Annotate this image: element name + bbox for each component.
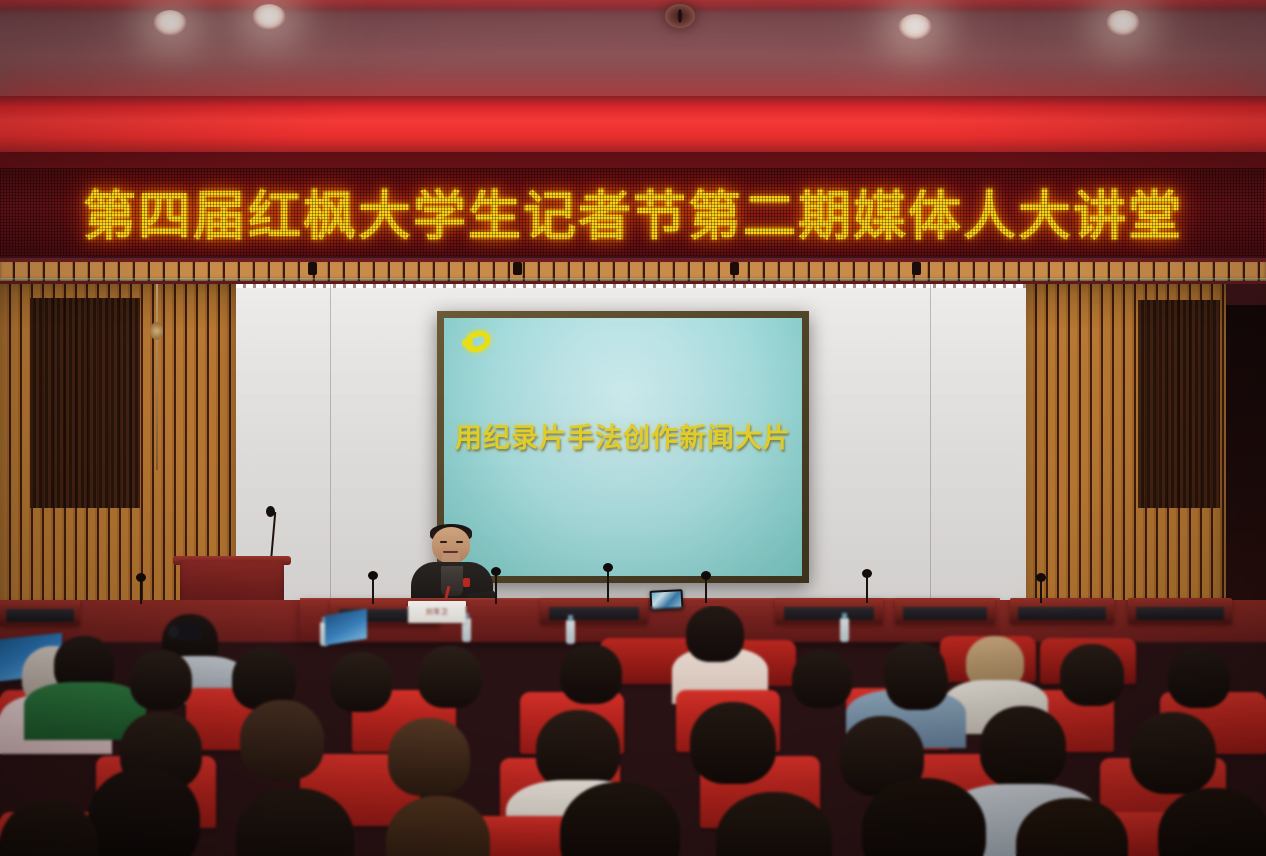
table-microphone-6 [1040, 580, 1042, 603]
red-cove-light-strip [0, 96, 1266, 158]
led-banner-board: 第四届红枫大学生记者节第二期媒体人大讲堂 [0, 168, 1266, 256]
ceiling-spot-2 [252, 4, 286, 30]
ceiling-sensor-3 [730, 262, 739, 275]
speaker-eye-right [456, 541, 463, 543]
ceiling-dome-fixture [665, 4, 695, 28]
table-microphone-2 [495, 574, 497, 604]
audience-head-denim [886, 652, 948, 710]
hanging-cable [156, 270, 158, 470]
audience-head-r2-10 [1060, 644, 1124, 706]
acoustic-grille-right [1138, 300, 1220, 508]
audience-head-r3-2 [240, 700, 324, 780]
slide-ring-logo-icon [461, 327, 494, 357]
audience-head-r3-7 [980, 706, 1066, 788]
audience-head-r2-5 [330, 652, 392, 712]
exit-doorway [1226, 305, 1266, 626]
flip-monitor-4 [895, 598, 995, 624]
ceiling-spot-4 [1106, 10, 1140, 36]
audience-head-r2-7 [560, 644, 622, 704]
audience-head-r2-11 [1168, 648, 1230, 708]
projection-screen-surface: 用纪录片手法创作新闻大片 [444, 318, 802, 576]
flip-monitor-2 [540, 598, 648, 624]
audience-smartphone[interactable] [649, 589, 683, 611]
audience-head-r3-3 [388, 718, 470, 796]
wood-slat-panel-right [1026, 270, 1226, 626]
table-microphone-7 [140, 580, 142, 604]
audience-head-fg-0 [0, 800, 98, 856]
ceiling-red-sheen [0, 0, 1266, 14]
audience-head-r3-5 [690, 702, 776, 784]
speaker-badge [463, 578, 470, 587]
ceiling-sensor-1 [308, 262, 317, 275]
speaker-name-card: 刘军卫 [408, 601, 466, 623]
water-bottle-2 [566, 620, 575, 644]
cable-knot [150, 322, 163, 340]
audience-head-r3-8 [1130, 712, 1216, 794]
ceiling-spot-1 [153, 10, 187, 36]
led-banner-text: 第四届红枫大学生记者节第二期媒体人大讲堂 [83, 174, 1183, 250]
table-microphone-4 [705, 578, 707, 603]
audience-head-r3-4 [536, 710, 620, 790]
ceiling-spot-3 [898, 14, 932, 40]
speaker-eye-left [440, 541, 447, 543]
water-bottle-4 [840, 618, 849, 642]
flip-monitor-0 [0, 600, 80, 626]
slide-title: 用纪录片手法创作新闻大片 [444, 416, 802, 455]
ceiling-sensor-4 [912, 262, 921, 275]
table-microphone-3 [607, 570, 609, 602]
speaker-name-card-text: 刘军卫 [426, 607, 449, 617]
table-microphone-1 [372, 578, 374, 604]
dslr-camera[interactable] [175, 623, 201, 641]
podium-microphone-icon [266, 506, 275, 517]
wood-block-trim [0, 262, 1266, 281]
flip-monitor-6 [1128, 598, 1232, 624]
lecture-hall-photo: 第四届红枫大学生记者节第二期媒体人大讲堂 用纪录片手法创作新闻大片 [0, 0, 1266, 856]
audience-head-r2-3 [130, 650, 192, 710]
audience-head-r2-6 [418, 646, 482, 708]
ceiling-sensor-2 [513, 262, 522, 275]
flip-monitor-5 [1010, 598, 1114, 624]
audience-phone-recorder-head [686, 606, 744, 662]
table-microphone-5 [866, 576, 868, 603]
wall-seam-2 [930, 281, 931, 626]
ceiling [0, 0, 1266, 100]
audience-head-fg-1 [88, 768, 200, 856]
audience-head-r2-8 [792, 650, 852, 708]
wall-seam-1 [330, 281, 331, 626]
speaker-shirt [441, 566, 463, 596]
projection-screen-frame: 用纪录片手法创作新闻大片 [437, 311, 809, 583]
